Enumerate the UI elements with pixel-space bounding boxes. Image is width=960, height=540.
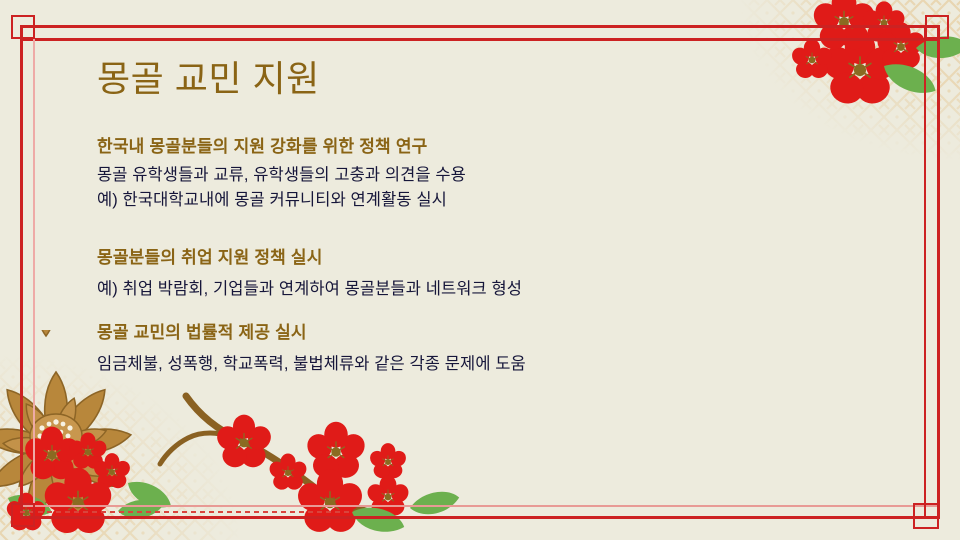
slide-content: 몽골 교민 지원 한국내 몽골분들의 지원 강화를 위한 정책 연구 몽골 유학…: [0, 0, 960, 540]
section-body-line: 예) 취업 박람회, 기업들과 연계하여 몽골분들과 네트워크 형성: [97, 275, 897, 299]
presentation-slide: 몽골 교민 지원 한국내 몽골분들의 지원 강화를 위한 정책 연구 몽골 유학…: [0, 0, 960, 540]
section-policy-research: 한국내 몽골분들의 지원 강화를 위한 정책 연구 몽골 유학생들과 교류, 유…: [97, 132, 897, 211]
section-employment-support: 몽골분들의 취업 지원 정책 실시 예) 취업 박람회, 기업들과 연계하여 몽…: [97, 243, 897, 300]
section-body-line: 몽골 유학생들과 교류, 유학생들의 고충과 의견을 수용: [97, 161, 897, 185]
section-heading: 몽골분들의 취업 지원 정책 실시: [97, 243, 897, 268]
section-legal-support: 몽골 교민의 법률적 제공 실시 임금체불, 성폭행, 학교폭력, 불법체류와 …: [97, 318, 897, 375]
page-title: 몽골 교민 지원: [97, 50, 320, 102]
section-heading: 몽골 교민의 법률적 제공 실시: [97, 318, 897, 343]
section-heading: 한국내 몽골분들의 지원 강화를 위한 정책 연구: [97, 132, 897, 157]
section-body-line: 예) 한국대학교내에 몽골 커뮤니티와 연계활동 실시: [97, 186, 897, 210]
section-body-line: 임금체불, 성폭행, 학교폭력, 불법체류와 같은 각종 문제에 도움: [97, 350, 897, 374]
